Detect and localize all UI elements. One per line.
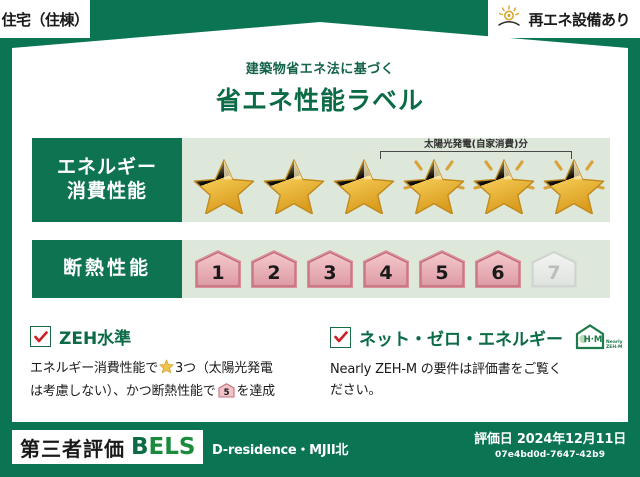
insulation-label-box: 断熱性能	[32, 240, 182, 298]
star-icon	[470, 152, 538, 214]
insulation-grade-value: 5	[435, 262, 448, 290]
evaluation-date: 評価日 2024年12月11日	[474, 428, 626, 447]
insulation-grade-value: 6	[491, 262, 504, 290]
evaluation-id: 07e4bd0d-7647-42b9	[474, 450, 626, 460]
energy-performance-stars-area: 太陽光発電(自家消費)分	[182, 138, 610, 222]
building-type-text: 住宅（住棟）	[1, 9, 88, 30]
insulation-grade-badge: 2	[248, 248, 300, 290]
insulation-performance-row: 断熱性能 1	[32, 240, 610, 298]
nze-desc-line1: Nearly ZEH-M の要件は評価書をご覧く	[330, 362, 562, 377]
net-zero-energy-description: Nearly ZEH-M の要件は評価書をご覧く ださい。	[330, 359, 618, 401]
svg-text:H·M: H·M	[584, 335, 603, 345]
title-subtitle: 建築物省エネ法に基づく	[0, 58, 640, 77]
bels-logo-els: ELS	[149, 434, 196, 460]
renewable-badge-label: 再エネ設備あり	[528, 9, 630, 30]
zeh-standard-heading: ZEH水準	[30, 324, 318, 349]
insulation-grade-badge: 4	[360, 248, 412, 290]
zeh-m-logo-caption: Nearly ZEH-M	[606, 340, 623, 350]
checkbox-checked-icon	[30, 326, 51, 347]
star-icon	[330, 152, 398, 214]
bels-logo-b: B	[131, 434, 149, 460]
zeh-standard-title: ZEH水準	[59, 324, 131, 349]
star-icon	[540, 152, 608, 214]
sun-icon	[496, 5, 522, 33]
energy-performance-label-box: エネルギー 消費性能	[32, 138, 182, 222]
insulation-label-text: 断熱性能	[63, 257, 151, 281]
building-name: D-residence・MJII北	[212, 439, 348, 458]
zeh-desc-part2: 3つ（太陽光発電	[175, 361, 273, 376]
energy-label-line1: エネルギー	[57, 156, 157, 180]
insulation-grade-value: 1	[211, 262, 224, 290]
net-zero-energy-title: ネット・ゼロ・エネルギー	[359, 325, 563, 350]
zeh-standard-description: エネルギー消費性能で3つ（太陽光発電 は考慮しない）、かつ断熱性能で5を達成	[30, 358, 318, 402]
insulation-grade-badges: 1 2 3	[182, 240, 610, 298]
insulation-grade-badge: 3	[304, 248, 356, 290]
nze-desc-line2: ださい。	[330, 383, 381, 398]
energy-performance-row: エネルギー 消費性能 太陽光発電(自家消費)分	[32, 138, 610, 222]
bels-logo-box: 第三者評価 BELS	[12, 430, 203, 464]
building-type-tag: 住宅（住棟）	[0, 0, 90, 38]
footer-bar: 第三者評価 BELS D-residence・MJII北 評価日 2024年12…	[0, 424, 640, 477]
insulation-grade-value: 4	[379, 262, 392, 290]
checkbox-checked-icon	[330, 327, 351, 348]
star-icon	[190, 152, 258, 214]
insulation-grade-badge: 7	[528, 248, 580, 290]
energy-label-line2: 消費性能	[67, 180, 147, 204]
insulation-grade-value: 7	[547, 262, 560, 290]
star-icon	[400, 152, 468, 214]
solar-bracket-label: 太陽光発電(自家消費)分	[380, 136, 572, 150]
energy-performance-label: 住宅（住棟） 再エネ設備あり 建築物省エネ法に基づく 省エネ性能ラベル	[0, 0, 640, 477]
star-icon	[260, 152, 328, 214]
zeh-desc-part3: は考慮しない）、かつ断熱性能で	[30, 384, 216, 399]
insulation-level-inline-badge: 5	[218, 383, 235, 398]
insulation-grade-badge: 5	[416, 248, 468, 290]
zeh-m-caption-line2: ZEH-M	[606, 345, 622, 350]
evaluation-info: 評価日 2024年12月11日 07e4bd0d-7647-42b9	[474, 428, 626, 460]
bels-logo-text: BELS	[131, 434, 195, 460]
insulation-grade-badge: 6	[472, 248, 524, 290]
zeh-m-logo-icon: H·M Nearly ZEH-M	[575, 324, 623, 350]
renewable-equipment-badge: 再エネ設備あり	[488, 0, 640, 38]
zeh-desc-part1: エネルギー消費性能で	[30, 361, 158, 376]
third-party-eval-label: 第三者評価	[20, 433, 125, 462]
insulation-grade-value: 2	[267, 262, 280, 290]
title-main: 省エネ性能ラベル	[0, 81, 640, 117]
star-icon	[159, 359, 174, 381]
svg-text:5: 5	[223, 388, 229, 398]
zeh-desc-part4: を達成	[237, 384, 275, 399]
net-zero-energy-heading: ネット・ゼロ・エネルギー H·M Nearly ZEH-M	[330, 324, 618, 350]
net-zero-energy-block: ネット・ゼロ・エネルギー H·M Nearly ZEH-M Nearly ZEH…	[330, 324, 618, 401]
insulation-grade-badge: 1	[192, 248, 244, 290]
star-rating	[190, 152, 608, 214]
label-title-block: 建築物省エネ法に基づく 省エネ性能ラベル	[0, 58, 640, 117]
zeh-standard-block: ZEH水準 エネルギー消費性能で3つ（太陽光発電 は考慮しない）、かつ断熱性能で…	[30, 324, 318, 402]
insulation-grade-value: 3	[323, 262, 336, 290]
